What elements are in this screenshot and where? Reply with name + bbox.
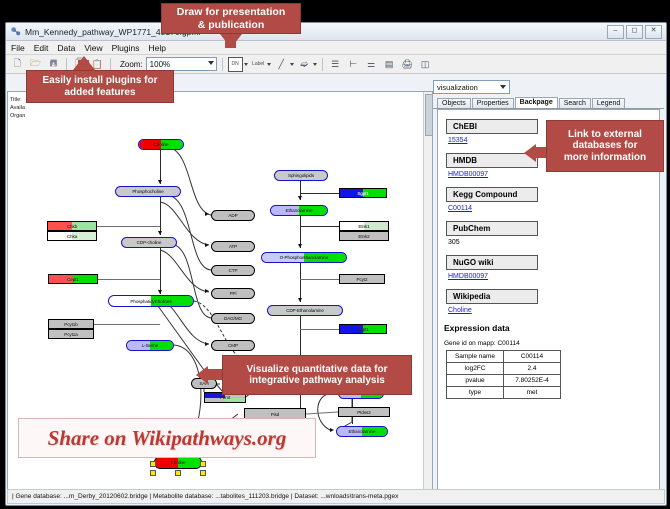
node-sphingolipids[interactable]: Sphingolipids	[274, 170, 328, 181]
arrow-icon	[330, 428, 334, 432]
node-label: Etnk1	[358, 224, 369, 229]
edge	[94, 324, 160, 325]
menu-item-data[interactable]: Data	[57, 43, 75, 53]
expression-data-title: Expression data	[444, 323, 659, 333]
toolbar-separator	[222, 58, 223, 71]
selection-handle[interactable]	[150, 470, 156, 476]
node-chkb[interactable]: Chkb	[47, 221, 97, 231]
node-pcyt2[interactable]: Pcyt2	[339, 274, 385, 284]
tab-legend[interactable]: Legend	[592, 98, 625, 108]
node-label: O-Phosphoethanolamine	[280, 255, 329, 260]
edge	[300, 193, 339, 194]
node-cdp-choline[interactable]: CDP-choline	[121, 237, 177, 248]
arrow-icon	[158, 290, 162, 294]
node-etnk2[interactable]: Etnk2	[339, 231, 389, 241]
edge	[300, 279, 339, 280]
selection-handle[interactable]	[150, 461, 156, 467]
align-icon[interactable]: ☰	[328, 57, 343, 72]
node-label: Chkb	[67, 224, 77, 229]
stack-icon[interactable]: ⚌	[364, 57, 379, 72]
callout-visualize-arrow-icon	[196, 366, 208, 384]
db-name: ChEBI	[446, 119, 538, 134]
edge	[98, 279, 160, 280]
node-etnk1[interactable]: Etnk1	[339, 221, 389, 231]
db-link[interactable]: C00114	[448, 205, 659, 212]
node-ethanolamine-right[interactable]: Ethanolamine	[336, 426, 388, 437]
selection-handle[interactable]	[200, 461, 206, 467]
arrow-icon	[205, 212, 209, 216]
node-label: ADP	[228, 213, 237, 218]
node-label: DAG/MG	[224, 316, 242, 321]
menu-item-file[interactable]: File	[11, 43, 25, 53]
callout-link: Link to external databases for more info…	[546, 120, 664, 172]
window-buttons: – ◻ ✕	[607, 25, 662, 39]
table-cell-key: type	[447, 387, 504, 399]
edge	[160, 248, 161, 294]
line-dropdown[interactable]: ╱	[274, 57, 294, 72]
tab-objects[interactable]: Objects	[437, 98, 471, 108]
table-cell-value: met	[504, 387, 561, 399]
edge	[300, 226, 339, 227]
zoom-combobox[interactable]: 100%	[146, 57, 217, 71]
menu-item-edit[interactable]: Edit	[34, 43, 49, 53]
share-text: Share on Wikipathways.org	[48, 426, 287, 451]
node-label: CDP-choline	[137, 240, 162, 245]
chevron-down-icon	[244, 63, 248, 66]
node-pcyt1b[interactable]: Pcyt1b	[48, 319, 94, 329]
db-link[interactable]: HMDB00097	[448, 273, 659, 280]
table-row: type met	[447, 387, 561, 399]
datanode-dropdown[interactable]: DN	[228, 57, 248, 72]
status-text: | Gene database: ...m_Derby_20120602.bri…	[8, 493, 398, 500]
table-row: log2FC 2.4	[447, 363, 561, 375]
menu-item-plugins[interactable]: Plugins	[112, 43, 140, 53]
arrow-icon	[298, 244, 302, 248]
arrow-icon	[158, 231, 162, 235]
expression-table: Sample name C00114 log2FC 2.4 pvalue 7.8…	[446, 350, 561, 399]
table-cell-key: Sample name	[447, 351, 504, 363]
gene-id-line: Gene id on mapp: C00114	[444, 340, 659, 347]
callout-share: Share on Wikipathways.org	[18, 418, 316, 458]
node-label: CMP	[228, 343, 238, 348]
node-label: L-Serine	[142, 343, 159, 348]
node-ctp[interactable]: CTP	[211, 265, 255, 276]
node-label: Phosphatidylcholines	[130, 299, 171, 304]
anchor-dropdown[interactable]: ➫	[297, 57, 317, 72]
chevron-down-icon	[500, 85, 506, 89]
print-icon[interactable]: 🖨	[400, 57, 415, 72]
node-label: Phosphocholine	[132, 189, 163, 194]
node-label: CDP-Ethanolamine	[286, 308, 324, 313]
label-icon: Label	[251, 57, 266, 72]
chevron-down-icon	[290, 63, 294, 66]
anchor-icon: ➫	[297, 57, 312, 72]
node-pcyt1a[interactable]: Pcyt1a	[48, 329, 94, 339]
node-l-serine-left[interactable]: L-Serine	[126, 340, 174, 351]
visualization-combobox[interactable]: visualization	[433, 80, 510, 94]
node-label: Etnk2	[358, 234, 369, 239]
table-cell-value: 2.4	[504, 363, 561, 375]
node-label: Cept1	[357, 327, 369, 332]
scrollbar-thumb[interactable]	[425, 94, 433, 136]
new-icon[interactable]: 🗋	[10, 57, 25, 72]
toolbar-separator	[110, 58, 111, 71]
callout-visualize: Visualize quantitative data for integrat…	[222, 355, 412, 395]
callout-plugins: Easily install plugins for added feature…	[26, 70, 174, 103]
node-label: Pisd	[271, 412, 280, 417]
selection-handle[interactable]	[200, 470, 206, 476]
arrow-icon	[205, 342, 209, 346]
canvas-vertical-scrollbar[interactable]	[423, 92, 432, 501]
line-icon: ╱	[274, 57, 289, 72]
group-icon[interactable]: ⊢	[346, 57, 361, 72]
db-name: Wikipedia	[446, 289, 538, 304]
table-cell-key: log2FC	[447, 363, 504, 375]
edge	[160, 197, 161, 235]
node-label: Pemt	[220, 395, 230, 400]
maximize-icon[interactable]: ◻	[626, 25, 643, 39]
db-card-wikipedia: Wikipedia Choline	[446, 286, 659, 314]
canvas-info-title: Title: Availa Organ	[10, 96, 25, 120]
status-bar: | Gene database: ...m_Derby_20120602.bri…	[7, 489, 665, 504]
node-label: Pcyt1b	[64, 322, 77, 327]
node-label: Ptdss2	[357, 410, 370, 415]
db-name: PubChem	[446, 221, 538, 236]
chevron-down-icon	[313, 63, 317, 66]
side-panel-tabs: Objects Properties Backpage Search Legen…	[433, 95, 664, 109]
callout-link-arrow-icon	[524, 144, 536, 162]
chevron-down-icon	[208, 61, 214, 65]
selection-handle[interactable]	[175, 470, 181, 476]
node-choline-top[interactable]: Choline	[138, 139, 184, 150]
distribute-icon[interactable]: ▤	[382, 57, 397, 72]
db-link[interactable]: Choline	[448, 307, 659, 314]
close-icon[interactable]: ✕	[645, 25, 662, 39]
node-sgpl1[interactable]: Sgpl1	[339, 188, 387, 198]
arrow-icon	[298, 298, 302, 302]
node-ppi[interactable]: PPi	[211, 288, 255, 299]
node-label: Ethanolamine	[349, 429, 376, 434]
arrow-icon	[298, 196, 302, 200]
edge	[160, 150, 161, 184]
datanode-icon: DN	[228, 57, 243, 72]
menu-item-help[interactable]: Help	[149, 43, 166, 53]
db-card-pubchem: PubChem 305	[446, 218, 659, 246]
node-label: Pcyt1a	[64, 332, 77, 337]
node-label: Pcyt2	[357, 277, 368, 282]
node-label: PPi	[230, 291, 237, 296]
edge	[300, 263, 301, 302]
node-atp[interactable]: ATP	[211, 241, 255, 252]
table-cell-value: 7.80252E-4	[504, 375, 561, 387]
node-cept1-left[interactable]: Cept1	[48, 274, 98, 284]
tab-backpage[interactable]: Backpage	[515, 97, 558, 108]
visualization-value: visualization	[437, 83, 478, 92]
node-o-phosphoethanolamine[interactable]: O-Phosphoethanolamine	[261, 252, 347, 263]
arrow-icon	[205, 243, 209, 247]
node-cmp[interactable]: CMP	[211, 340, 255, 351]
menu-item-view[interactable]: View	[84, 43, 102, 53]
arrow-icon	[205, 289, 209, 293]
node-chka[interactable]: Chka	[47, 231, 97, 241]
node-label: Ethanolamine	[286, 208, 313, 213]
menu-bar: File Edit Data View Plugins Help	[6, 41, 666, 55]
node-label: CTP	[229, 268, 238, 273]
title-bar: Mm_Kennedy_pathway_WP1771_45176.gpml – ◻…	[6, 23, 666, 41]
db-name: Kegg Compound	[446, 187, 538, 202]
node-phosphocholine[interactable]: Phosphocholine	[115, 186, 181, 197]
node-phosphatidylcholines[interactable]: Phosphatidylcholines	[108, 295, 194, 307]
node-label: Choline	[154, 142, 169, 147]
node-cdp-ethanolamine[interactable]: CDP-Ethanolamine	[267, 305, 343, 316]
label-dropdown[interactable]: Label	[251, 57, 271, 72]
db-link[interactable]: HMDB00097	[448, 171, 659, 178]
node-label: Sphingolipids	[288, 173, 314, 178]
node-adp[interactable]: ADP	[211, 210, 255, 221]
node-dag-mg[interactable]: DAG/MG	[211, 313, 255, 324]
table-cell-key: pvalue	[447, 375, 504, 387]
tab-search[interactable]: Search	[559, 98, 591, 108]
zoom-value: 100%	[150, 60, 170, 69]
db-name: NuGO wiki	[446, 255, 538, 270]
node-label: Cept1	[67, 277, 79, 282]
node-ptdss2[interactable]: Ptdss2	[338, 407, 390, 417]
callout-draw: Draw for presentation & publication	[161, 3, 301, 34]
screenshot-root: Mm_Kennedy_pathway_WP1771_45176.gpml – ◻…	[0, 0, 670, 509]
layout-icon[interactable]: ◫	[418, 57, 433, 72]
node-label: ATP	[229, 244, 237, 249]
edge	[97, 226, 160, 227]
edge	[300, 329, 339, 330]
tab-properties[interactable]: Properties	[472, 98, 514, 108]
db-card-kegg-compound: Kegg Compound C00114	[446, 184, 659, 212]
toolbar-separator	[322, 58, 323, 71]
table-row: pvalue 7.80252E-4	[447, 375, 561, 387]
node-label: Chka	[67, 234, 77, 239]
node-ethanolamine[interactable]: Ethanolamine	[270, 205, 328, 216]
arrow-icon	[158, 180, 162, 184]
node-label: Choline	[171, 460, 186, 465]
chevron-down-icon	[267, 63, 271, 66]
minimize-icon[interactable]: –	[607, 25, 624, 39]
db-value: 305	[448, 239, 659, 246]
toolbar-separator	[66, 58, 67, 71]
table-cell-value: C00114	[504, 351, 561, 363]
pathvisio-icon	[10, 26, 21, 37]
zoom-label: Zoom:	[120, 60, 143, 69]
db-card-nugo-wiki: NuGO wiki HMDB00097	[446, 252, 659, 280]
node-cept1-right[interactable]: Cept1	[339, 324, 387, 334]
table-row: Sample name C00114	[447, 351, 561, 363]
callout-draw-arrow-icon	[220, 34, 242, 48]
node-label: Sgpl1	[357, 191, 368, 196]
callout-plugins-arrow-icon	[73, 56, 95, 70]
edge	[300, 316, 301, 360]
